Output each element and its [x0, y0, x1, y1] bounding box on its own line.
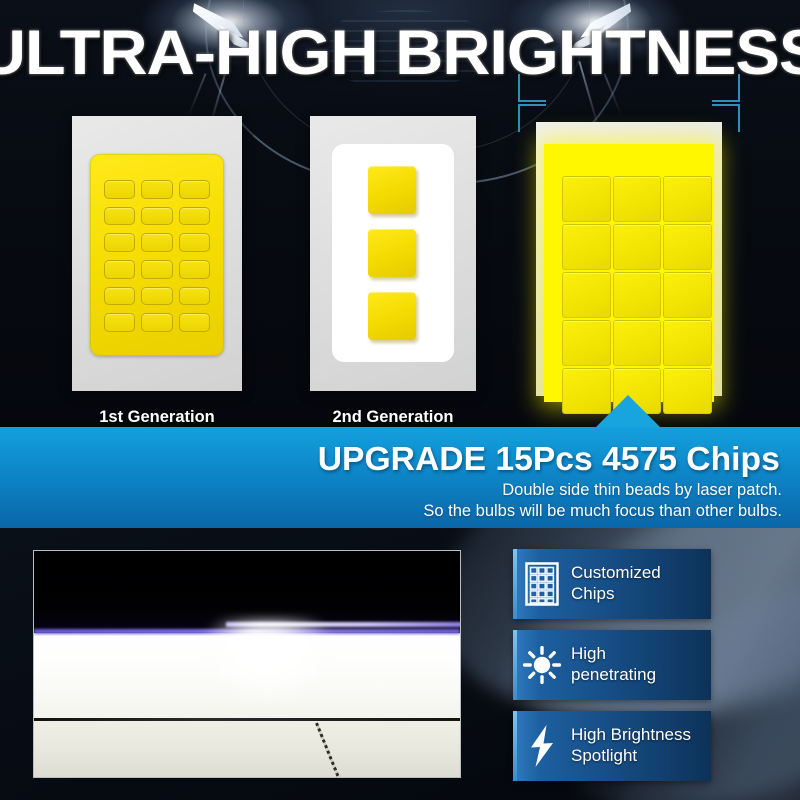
- sun-icon: [513, 630, 571, 700]
- emitter-chip: [562, 272, 611, 318]
- emitter-grid: [104, 180, 210, 332]
- upgrade-banner: UPGRADE 15Pcs 4575 Chips Double side thi…: [0, 427, 800, 528]
- panel-card: [310, 116, 476, 391]
- emitter-chip: [562, 224, 611, 270]
- emitter-pill: [141, 313, 172, 332]
- feature-label: High Brightness Spotlight: [571, 725, 695, 766]
- emitter-pill: [179, 180, 210, 199]
- emitter-square: [368, 166, 416, 214]
- panel-card: [536, 122, 722, 396]
- emitter-grid: [562, 176, 712, 414]
- comparison-panels: 1st Generation 2nd Generation: [0, 108, 800, 418]
- feature-label: Customized Chips: [571, 563, 665, 604]
- banner-subtitle-line-1: Double side thin beads by laser patch.: [0, 481, 790, 500]
- emitter-chip: [663, 176, 712, 222]
- emitter-pill: [104, 287, 135, 306]
- panel-card: [72, 116, 242, 391]
- emitter-pill: [104, 233, 135, 252]
- panel-label-second-generation: 2nd Generation: [310, 408, 476, 427]
- bottom-section: Customized Chips: [0, 528, 800, 800]
- chip-emitter-upgrade: [544, 144, 714, 402]
- emitter-chip: [562, 320, 611, 366]
- emitter-pill: [141, 233, 172, 252]
- product-feature-image: ULTRA-HIGH BRIGHTNESS: [0, 0, 800, 800]
- feature-list: Customized Chips: [513, 549, 713, 792]
- emitter-chip: [613, 320, 662, 366]
- focus-bracket-bottom-right-icon: [712, 74, 740, 102]
- emitter-chip: [613, 176, 662, 222]
- triangle-up-icon: [596, 395, 660, 427]
- emitter-pill: [104, 260, 135, 279]
- focus-bracket-bottom-left-icon: [518, 74, 546, 102]
- panel-label-first-generation: 1st Generation: [72, 408, 242, 427]
- banner-subtitle-line-2: So the bulbs will be much focus than oth…: [0, 502, 790, 521]
- emitter-chip: [663, 320, 712, 366]
- emitter-pill: [141, 260, 172, 279]
- emitter-pill: [141, 207, 172, 226]
- emitter-pill: [104, 313, 135, 332]
- emitter-pill: [104, 207, 135, 226]
- emitter-chip: [663, 368, 712, 414]
- emitter-chip: [663, 224, 712, 270]
- emitter-pill: [179, 313, 210, 332]
- page-title: ULTRA-HIGH BRIGHTNESS: [0, 22, 800, 85]
- photo-floor: [34, 721, 460, 778]
- chip-emitter-2nd-gen: [332, 144, 454, 362]
- emitter-pill: [179, 207, 210, 226]
- emitter-square: [368, 229, 416, 277]
- feature-item-high-brightness-spotlight[interactable]: High Brightness Spotlight: [513, 711, 711, 781]
- emitter-pill: [179, 287, 210, 306]
- feature-item-high-penetrating[interactable]: High penetrating: [513, 630, 711, 700]
- photo-beam-hotspot: [204, 619, 332, 705]
- emitter-chip: [613, 224, 662, 270]
- emitter-square: [368, 292, 416, 340]
- emitter-chip: [613, 272, 662, 318]
- emitter-pill: [179, 260, 210, 279]
- feature-label: High penetrating: [571, 644, 660, 685]
- emitter-pill: [179, 233, 210, 252]
- banner-title: UPGRADE 15Pcs 4575 Chips: [0, 440, 790, 478]
- feature-item-customized-chips[interactable]: Customized Chips: [513, 549, 711, 619]
- emitter-pill: [141, 287, 172, 306]
- beam-pattern-photo: [33, 550, 461, 778]
- emitter-pill: [104, 180, 135, 199]
- emitter-chip: [562, 176, 611, 222]
- chip-grid-icon: [513, 549, 571, 619]
- lightning-bolt-icon: [513, 711, 571, 781]
- emitter-pill: [141, 180, 172, 199]
- chip-emitter-1st-gen: [90, 154, 224, 356]
- emitter-chip: [663, 272, 712, 318]
